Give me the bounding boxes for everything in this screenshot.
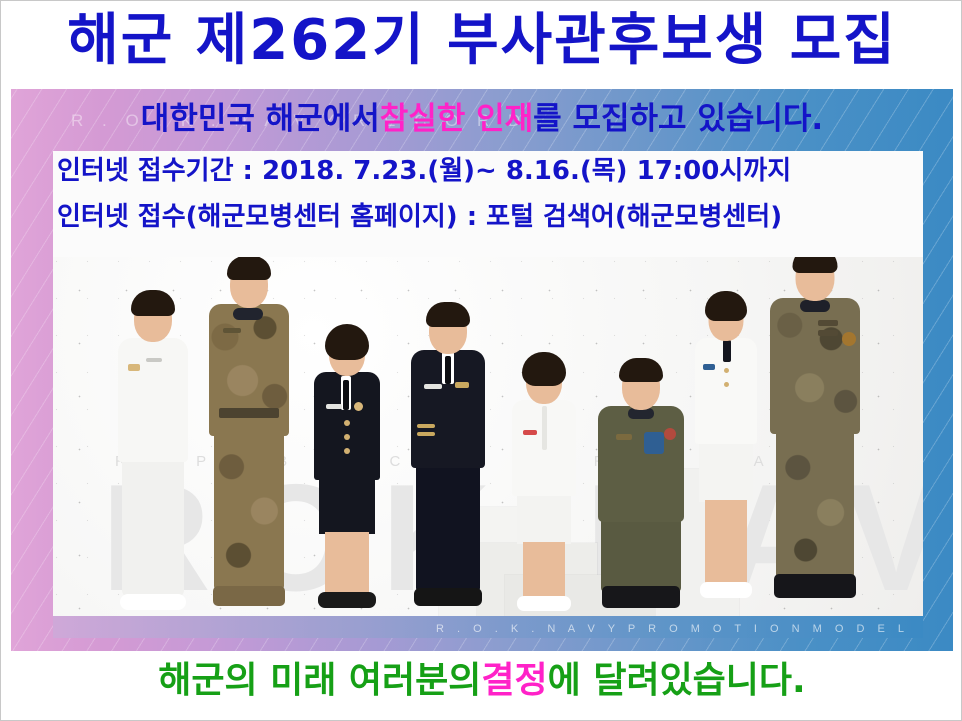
group-photo: R E P U B L I C O F K O R E A N A V Y RO… xyxy=(53,257,923,638)
person-figure xyxy=(689,290,763,616)
rank-badge xyxy=(128,364,140,371)
poster-title-row: 해군 제262기 부사관후보생 모집 xyxy=(1,5,962,77)
button xyxy=(724,368,729,373)
necktie xyxy=(445,356,451,384)
torso-uniform xyxy=(209,304,289,436)
shoes xyxy=(700,582,752,598)
legs xyxy=(325,532,369,596)
legs-uniform xyxy=(122,458,184,598)
hair xyxy=(522,352,566,386)
navy-recruitment-poster: 해군 제262기 부사관후보생 모집 R . O . K . N A V Y R… xyxy=(0,0,962,721)
legs-uniform xyxy=(776,430,854,580)
name-tape xyxy=(616,434,632,440)
service-tape xyxy=(818,330,838,336)
hair xyxy=(705,291,747,321)
headline-row: 대한민국 해군에서 참실한 인재를 모집하고 있습니다. xyxy=(11,97,953,141)
hair xyxy=(325,324,369,360)
shoes xyxy=(414,588,482,606)
shoes xyxy=(120,594,186,610)
shoes xyxy=(517,596,571,611)
hair xyxy=(793,257,838,273)
slogan-highlight: 결정 xyxy=(481,663,547,699)
shoulder-patch xyxy=(664,428,676,440)
skirt-uniform xyxy=(517,492,571,544)
person-figure xyxy=(765,257,865,616)
ribbon-badge xyxy=(146,358,162,362)
hair xyxy=(131,290,175,316)
legs-uniform xyxy=(214,432,284,590)
torso-uniform xyxy=(411,350,485,468)
slogan-row: 해군의 미래 여러분의 결정에 달려있습니다. xyxy=(11,653,953,709)
button xyxy=(344,420,350,426)
undershirt-collar xyxy=(233,308,263,320)
torso-uniform xyxy=(598,406,684,522)
hair xyxy=(619,358,663,382)
name-tag xyxy=(326,404,342,409)
content-panel: 인터넷 접수기간 : 2018. 7.23.(월)~ 8.16.(목) 17:0… xyxy=(53,151,923,638)
torso-uniform xyxy=(314,372,380,480)
hair xyxy=(426,302,470,327)
skirt-uniform xyxy=(319,476,375,534)
button-placket xyxy=(542,406,547,450)
necktie xyxy=(343,380,349,410)
sleeve-stripe xyxy=(417,432,435,436)
legs xyxy=(705,500,747,584)
button xyxy=(344,434,350,440)
slogan-after: 에 달려있습니다. xyxy=(548,663,806,699)
sleeve-stripe xyxy=(417,424,435,428)
hair xyxy=(227,257,271,280)
headline-after: 를 모집하고 있습니다. xyxy=(533,104,823,135)
belt xyxy=(219,408,279,418)
name-tag xyxy=(424,384,442,389)
shoes xyxy=(213,586,285,606)
button xyxy=(344,448,350,454)
headline-highlight: 참실한 인재 xyxy=(380,104,533,135)
insignia xyxy=(354,402,363,411)
ribbon-bar xyxy=(455,382,469,388)
name-tape xyxy=(223,328,241,333)
legs-uniform xyxy=(601,516,681,592)
legs-uniform xyxy=(416,464,480,592)
torso-uniform xyxy=(695,338,757,444)
info-text-block: 인터넷 접수기간 : 2018. 7.23.(월)~ 8.16.(목) 17:0… xyxy=(53,151,923,233)
unit-patch xyxy=(842,332,856,346)
person-figure xyxy=(203,257,295,616)
name-tape xyxy=(818,320,838,326)
torso-uniform xyxy=(512,400,576,496)
shoulder-board xyxy=(703,364,715,370)
torso-uniform xyxy=(770,298,860,434)
squadron-patch xyxy=(644,432,664,454)
info-line-application-period: 인터넷 접수기간 : 2018. 7.23.(월)~ 8.16.(목) 17:0… xyxy=(53,157,923,187)
legs xyxy=(523,542,565,600)
photo-floor-strip: R . O . K . N A V Y P R O M O T I O N M … xyxy=(53,616,923,638)
person-figure xyxy=(111,286,195,616)
slogan-before: 해군의 미래 여러분의 xyxy=(158,663,481,699)
person-figure xyxy=(505,348,583,616)
page-title: 해군 제262기 부사관후보생 모집 xyxy=(67,13,897,69)
shoes xyxy=(318,592,376,608)
photo-floor-caption: R . O . K . N A V Y P R O M O T I O N M … xyxy=(436,623,909,635)
undershirt-collar xyxy=(800,300,830,312)
headline-before: 대한민국 해군에서 xyxy=(141,104,380,135)
name-tag xyxy=(523,430,537,435)
torso-uniform xyxy=(118,338,188,462)
person-figure xyxy=(593,354,689,616)
necktie xyxy=(723,340,731,362)
shoes xyxy=(602,586,680,608)
info-line-application-site: 인터넷 접수(해군모병센터 홈페이지) : 포털 검색어(해군모병센터) xyxy=(53,187,923,233)
person-figure xyxy=(405,300,491,616)
shoes xyxy=(774,574,856,598)
button xyxy=(724,382,729,387)
skirt-uniform xyxy=(699,440,753,502)
person-figure xyxy=(307,320,387,616)
